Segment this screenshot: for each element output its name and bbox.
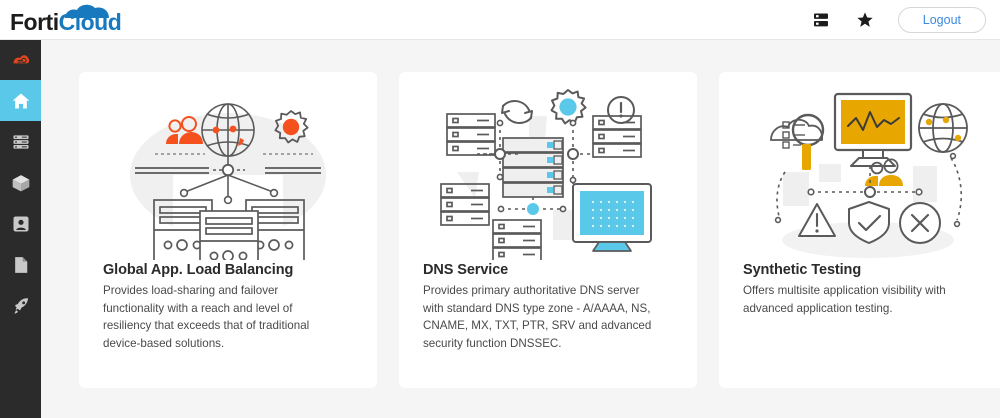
sidebar-item-products[interactable] <box>0 162 41 203</box>
sidebar-item-reports[interactable] <box>0 244 41 285</box>
service-card-dns-service[interactable]: DNS Service Provides primary authoritati… <box>399 72 697 388</box>
dns-network-illustration <box>399 72 697 262</box>
contact-card-icon <box>11 214 31 234</box>
service-card-global-app-load-balancing[interactable]: Global App. Load Balancing Provides load… <box>79 72 377 388</box>
forticloud-logo[interactable]: FortiCloud <box>10 3 121 37</box>
card-description: Offers multisite application visibility … <box>743 282 975 317</box>
card-text-block: DNS Service Provides primary authoritati… <box>399 262 697 353</box>
star-icon[interactable] <box>854 9 876 31</box>
sidebar-item-forticloud-logo[interactable] <box>0 40 41 80</box>
header-actions: Logout <box>810 7 1000 33</box>
sidebar <box>0 40 41 418</box>
forticloud-logo-icon <box>11 50 31 70</box>
main-content: Global App. Load Balancing Provides load… <box>41 40 1000 418</box>
sidebar-item-accounts[interactable] <box>0 203 41 244</box>
document-icon <box>11 255 31 275</box>
globe-servers-illustration <box>79 72 377 262</box>
card-description: Provides primary authoritative DNS serve… <box>423 282 655 353</box>
sidebar-item-servers[interactable] <box>0 121 41 162</box>
synthetic-monitor-illustration <box>719 72 1000 262</box>
rocket-icon <box>11 296 31 316</box>
card-text-block: Global App. Load Balancing Provides load… <box>79 262 377 353</box>
card-title: Global App. Load Balancing <box>103 262 353 278</box>
server-stack-icon <box>11 132 31 152</box>
card-title: Synthetic Testing <box>743 262 993 278</box>
server-stack-icon[interactable] <box>810 9 832 31</box>
sidebar-item-home[interactable] <box>0 80 41 121</box>
service-card-list: Global App. Load Balancing Provides load… <box>79 72 1000 388</box>
card-description: Provides load-sharing and failover funct… <box>103 282 335 353</box>
service-card-synthetic-testing[interactable]: Synthetic Testing Offers multisite appli… <box>719 72 1000 388</box>
cube-icon <box>11 173 31 193</box>
sidebar-item-deploy[interactable] <box>0 285 41 326</box>
logout-button[interactable]: Logout <box>898 7 986 33</box>
card-text-block: Synthetic Testing Offers multisite appli… <box>719 262 1000 317</box>
home-icon <box>11 91 31 111</box>
card-title: DNS Service <box>423 262 673 278</box>
app-header: FortiCloud Logout <box>0 0 1000 40</box>
logo-text-forti: Forti <box>10 9 59 35</box>
cloud-shape-icon <box>63 3 111 19</box>
